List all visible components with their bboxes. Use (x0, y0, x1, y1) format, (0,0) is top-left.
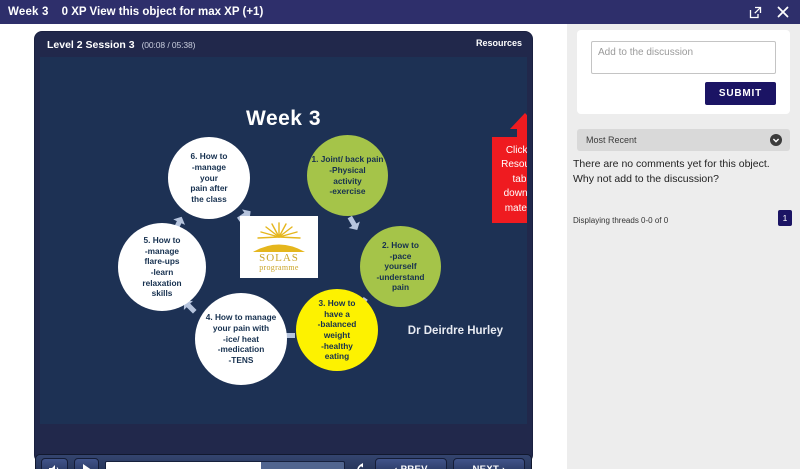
chevron-down-icon (770, 134, 782, 146)
presenter-name: Dr Deirdre Hurley (408, 325, 503, 337)
replay-icon[interactable] (351, 459, 375, 469)
topic-circle-6: 6. How to -manage your pain after the cl… (168, 137, 250, 219)
topic-circle-3: 3. How to have a -balanced weight -healt… (296, 289, 378, 371)
resources-callout: Click the Resources tab to download mate… (492, 113, 527, 223)
xp-status: 0 XP View this object for max XP (+1) (62, 6, 264, 18)
player-controls: ‹ PREV NEXT › (35, 454, 532, 469)
top-bar: Week 3 0 XP View this object for max XP … (0, 0, 800, 24)
player-region: Level 2 Session 3 (00:08 / 05:38) Resour… (0, 24, 567, 469)
topic-circle-3-label: 3. How to have a -balanced weight -healt… (318, 298, 357, 362)
page-badge[interactable]: 1 (778, 210, 792, 226)
volume-icon[interactable] (41, 458, 68, 469)
sort-dropdown[interactable]: Most Recent (577, 129, 790, 151)
play-button[interactable] (74, 458, 99, 469)
empty-comments-message: There are no comments yet for this objec… (573, 157, 791, 187)
submit-button[interactable]: SUBMIT (705, 82, 776, 105)
discussion-sidebar: SUBMIT Most Recent There are no comments… (567, 24, 800, 469)
close-icon[interactable] (772, 1, 794, 23)
threads-status: Displaying threads 0-0 of 0 (573, 216, 668, 225)
topic-circle-2-label: 2. How to -pace yourself -understand pai… (377, 240, 425, 293)
topic-circle-6-label: 6. How to -manage your pain after the cl… (190, 151, 227, 204)
connector-arrow (344, 214, 363, 233)
playback-time: (00:08 / 05:38) (142, 40, 196, 50)
next-button[interactable]: NEXT › (453, 458, 525, 469)
slide-title: Week 3 (40, 107, 527, 131)
solas-center-logo: SOLAS programme (240, 216, 318, 278)
prev-button[interactable]: ‹ PREV (375, 458, 447, 469)
page-title: Week 3 (8, 6, 49, 18)
sort-dropdown-label: Most Recent (586, 135, 637, 145)
progress-bar[interactable] (105, 461, 345, 469)
callout-text: Click the Resources tab to download mate… (492, 137, 527, 223)
topic-circle-4-label: 4. How to manage your pain with -ice/ he… (206, 312, 277, 365)
topic-circle-5-label: 5. How to -manage flare-ups -learn relax… (142, 235, 181, 299)
comment-input[interactable] (591, 41, 776, 74)
resources-tab[interactable]: Resources (476, 38, 522, 48)
topic-circle-5: 5. How to -manage flare-ups -learn relax… (118, 223, 206, 311)
video-player: Level 2 Session 3 (00:08 / 05:38) Resour… (35, 32, 532, 462)
topic-circle-1: 1. Joint/ back pain -Physical activity -… (307, 135, 388, 216)
external-link-icon[interactable] (744, 1, 766, 23)
solas-logo-sub: programme (259, 264, 299, 273)
sunburst-icon (249, 221, 309, 255)
slide-stage: Week 3 1. Joint/ back pain -Physical act… (40, 57, 527, 424)
app-root: Week 3 0 XP View this object for max XP … (0, 0, 800, 469)
comment-composer: SUBMIT (577, 30, 790, 114)
lesson-title: Level 2 Session 3 (47, 39, 135, 51)
topic-circle-2: 2. How to -pace yourself -understand pai… (360, 226, 441, 307)
topic-circle-4: 4. How to manage your pain with -ice/ he… (195, 293, 287, 385)
topic-circle-1-label: 1. Joint/ back pain -Physical activity -… (312, 154, 384, 196)
progress-fill (106, 462, 261, 469)
player-header: Level 2 Session 3 (00:08 / 05:38) (35, 32, 532, 57)
